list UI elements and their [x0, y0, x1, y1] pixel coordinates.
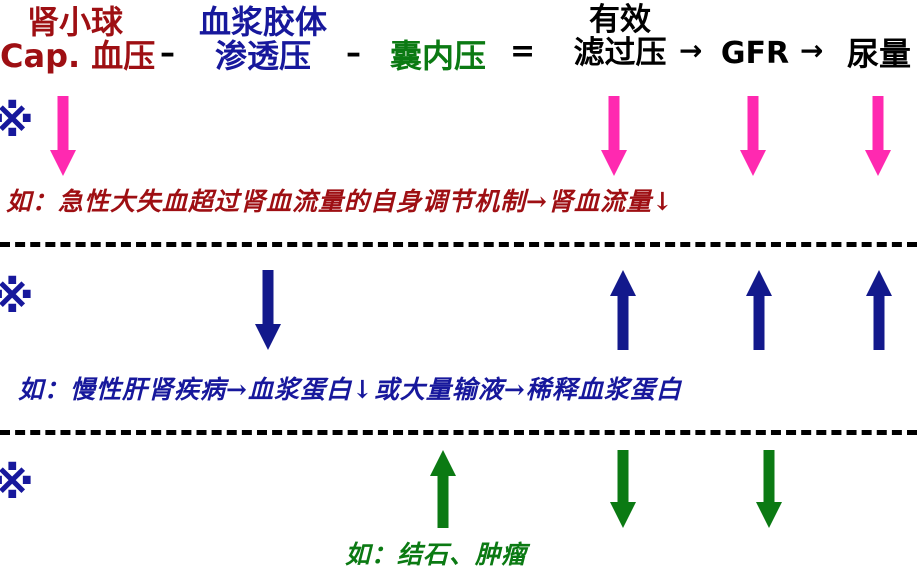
arrow-row2-plasma-osmotic: [255, 270, 281, 350]
term-line1: 有效: [560, 4, 680, 37]
term-line2: 尿量: [847, 35, 911, 73]
term-line2: 渗透压: [190, 40, 336, 74]
operator-arrow-1: →: [679, 34, 702, 67]
term-line1: 肾小球: [0, 6, 150, 40]
section-bullet-icon-1: ※: [0, 100, 34, 144]
arrow-row1-gfr: [740, 96, 766, 176]
term-capsular-pressure: 囊内压: [380, 40, 496, 74]
term-gfr: GFR: [712, 38, 798, 70]
arrow-row2-urine-output: [866, 270, 892, 350]
divider-1: [0, 242, 917, 247]
term-line1: 血浆胶体: [190, 6, 336, 40]
example-text-stones-tumors: 如：结石、肿瘤: [345, 535, 527, 571]
operator-minus-2: –: [346, 36, 361, 71]
arrow-row1-effective-filtration: [601, 96, 627, 176]
term-line2: GFR: [721, 36, 789, 71]
term-plasma-colloid-osmotic-pressure: 血浆胶体 渗透压: [190, 6, 336, 74]
section-bullet-icon-3: ※: [0, 462, 34, 506]
term-effective-filtration-pressure: 有效 滤过压: [560, 4, 680, 70]
operator-arrow-2: →: [800, 34, 823, 67]
term-urine-output: 尿量: [840, 38, 917, 72]
term-line2: 囊内压: [390, 37, 486, 75]
arrow-row2-gfr: [746, 270, 772, 350]
arrow-row1-glomerular-pressure: [50, 96, 76, 176]
example-text-chronic-liver-kidney-disease: 如：慢性肝肾疾病→血浆蛋白↓或大量输液→稀释血浆蛋白: [18, 370, 682, 406]
term-line2: 滤过压: [560, 37, 680, 70]
divider-2: [0, 430, 917, 435]
arrow-row1-urine-output: [865, 96, 891, 176]
arrow-row3-effective-filtration: [610, 450, 636, 528]
example-text-acute-blood-loss: 如：急性大失血超过肾血流量的自身调节机制→肾血流量↓: [6, 182, 674, 218]
arrow-row3-gfr: [756, 450, 782, 528]
operator-minus-1: –: [160, 36, 175, 71]
arrow-row3-capsular-pressure: [430, 450, 456, 528]
term-line2: Cap. 血压: [0, 40, 150, 74]
operator-equals: =: [510, 34, 535, 69]
term-glomerular-capillary-pressure: 肾小球 Cap. 血压: [0, 6, 150, 74]
section-bullet-icon-2: ※: [0, 276, 34, 320]
arrow-row2-effective-filtration: [610, 270, 636, 350]
diagram-canvas: 肾小球 Cap. 血压 – 血浆胶体 渗透压 – 囊内压 = 有效 滤过压: [0, 0, 917, 575]
